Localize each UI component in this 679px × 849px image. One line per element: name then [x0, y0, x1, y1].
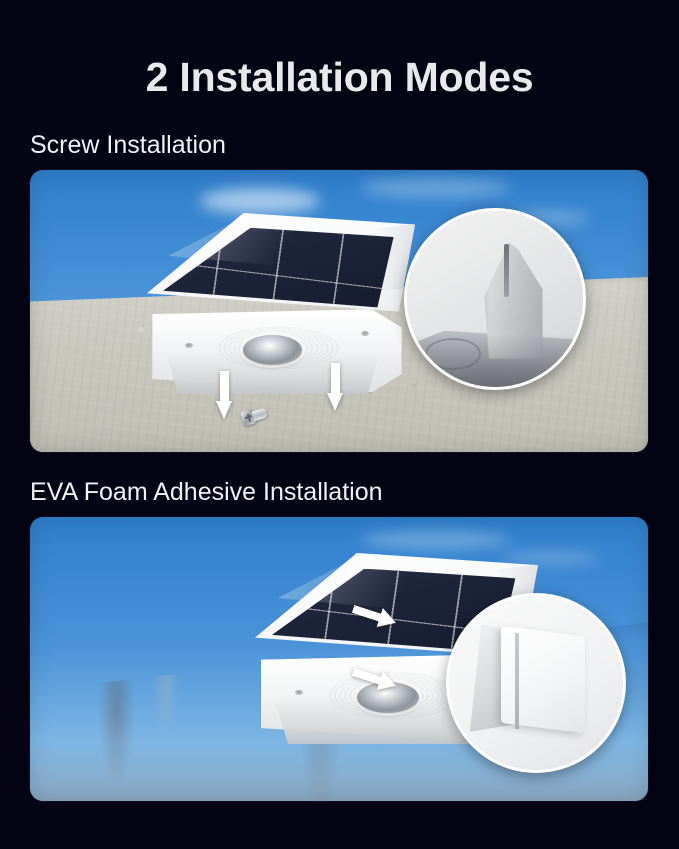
cloud-icon: [200, 188, 320, 214]
keyhole-mount-callout: [404, 208, 586, 390]
section-label-screw-installation: Screw Installation: [30, 130, 226, 160]
page-title: 2 Installation Modes: [0, 54, 679, 100]
screw-hole-icon: [185, 343, 193, 348]
arrow-down-icon: [327, 363, 344, 411]
foam-pad-edge: [515, 632, 519, 728]
callout-shading: [407, 334, 583, 387]
keyhole-groove: [504, 244, 509, 297]
screw-hole-icon: [295, 690, 303, 695]
eva-foam-installation-photo: [30, 517, 648, 801]
solar-light-fixture: [147, 213, 415, 398]
section-label-eva-foam-installation: EVA Foam Adhesive Installation: [30, 477, 383, 507]
eva-foam-adhesive-pad: [501, 626, 585, 734]
motion-sensor-lens: [243, 335, 302, 365]
screw-installation-photo: [30, 170, 648, 452]
infographic-page: 2 Installation Modes Screw Installation: [0, 0, 679, 849]
cloud-icon: [360, 178, 510, 198]
foam-pad-callout: [446, 593, 626, 773]
cloud-icon: [360, 531, 510, 549]
arrow-down-icon: [216, 371, 233, 419]
